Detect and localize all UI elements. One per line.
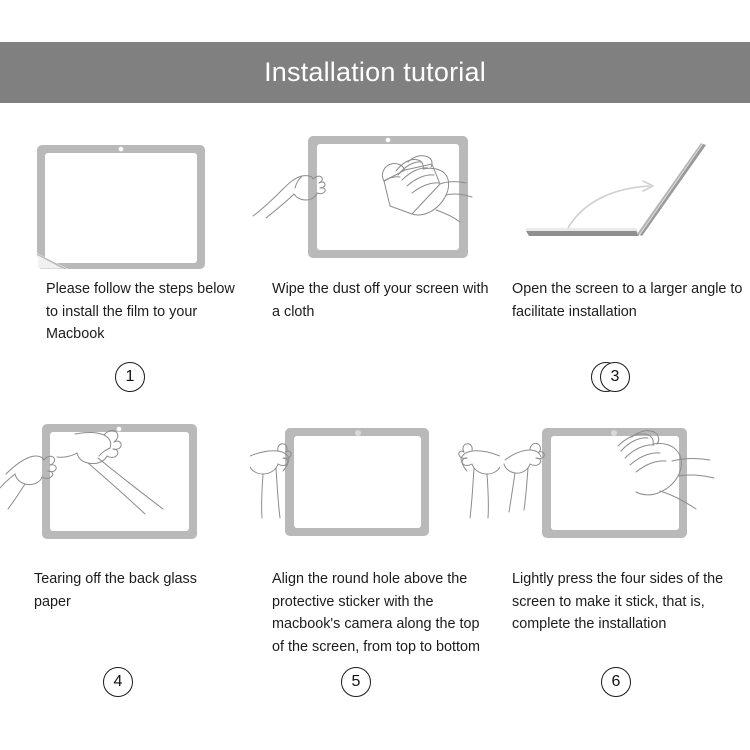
step-6-caption: Lightly press the four sides of the scre… bbox=[500, 568, 750, 636]
page-title: Installation tutorial bbox=[264, 57, 486, 88]
step-5-caption: Align the round hole above the protectiv… bbox=[250, 568, 500, 658]
step-6-illustration bbox=[500, 408, 750, 560]
step-card-4: Tearing off the back glass paper 4 bbox=[0, 408, 250, 698]
step-2-illustration bbox=[250, 118, 500, 270]
step-card-5: Align the round hole above the protectiv… bbox=[250, 408, 500, 698]
step-4-illustration bbox=[0, 408, 250, 560]
step-5-number: 5 bbox=[341, 667, 371, 697]
step-card-6: Lightly press the four sides of the scre… bbox=[500, 408, 750, 698]
steps-grid: Please follow the steps below to install… bbox=[0, 118, 750, 750]
tutorial-page: Installation tutorial bbox=[0, 0, 750, 750]
step-3-illustration bbox=[500, 118, 750, 270]
step-card-3: Open the screen to a larger angle to fac… bbox=[500, 118, 750, 408]
step-6-number: 6 bbox=[601, 667, 631, 697]
step-4-number: 4 bbox=[103, 667, 133, 697]
step-3-number: 3 bbox=[600, 362, 630, 392]
step-card-2: Wipe the dust off your screen with a clo… bbox=[250, 118, 500, 408]
step-1-number: 1 bbox=[115, 362, 145, 392]
step-2-caption: Wipe the dust off your screen with a clo… bbox=[250, 278, 500, 323]
step-1-caption: Please follow the steps below to install… bbox=[0, 278, 250, 346]
step-4-caption: Tearing off the back glass paper bbox=[0, 568, 250, 613]
step-card-1: Please follow the steps below to install… bbox=[0, 118, 250, 408]
step-5-illustration bbox=[250, 408, 500, 560]
header-banner: Installation tutorial bbox=[0, 42, 750, 103]
step-1-illustration bbox=[0, 118, 250, 270]
step-3-caption: Open the screen to a larger angle to fac… bbox=[500, 278, 750, 323]
